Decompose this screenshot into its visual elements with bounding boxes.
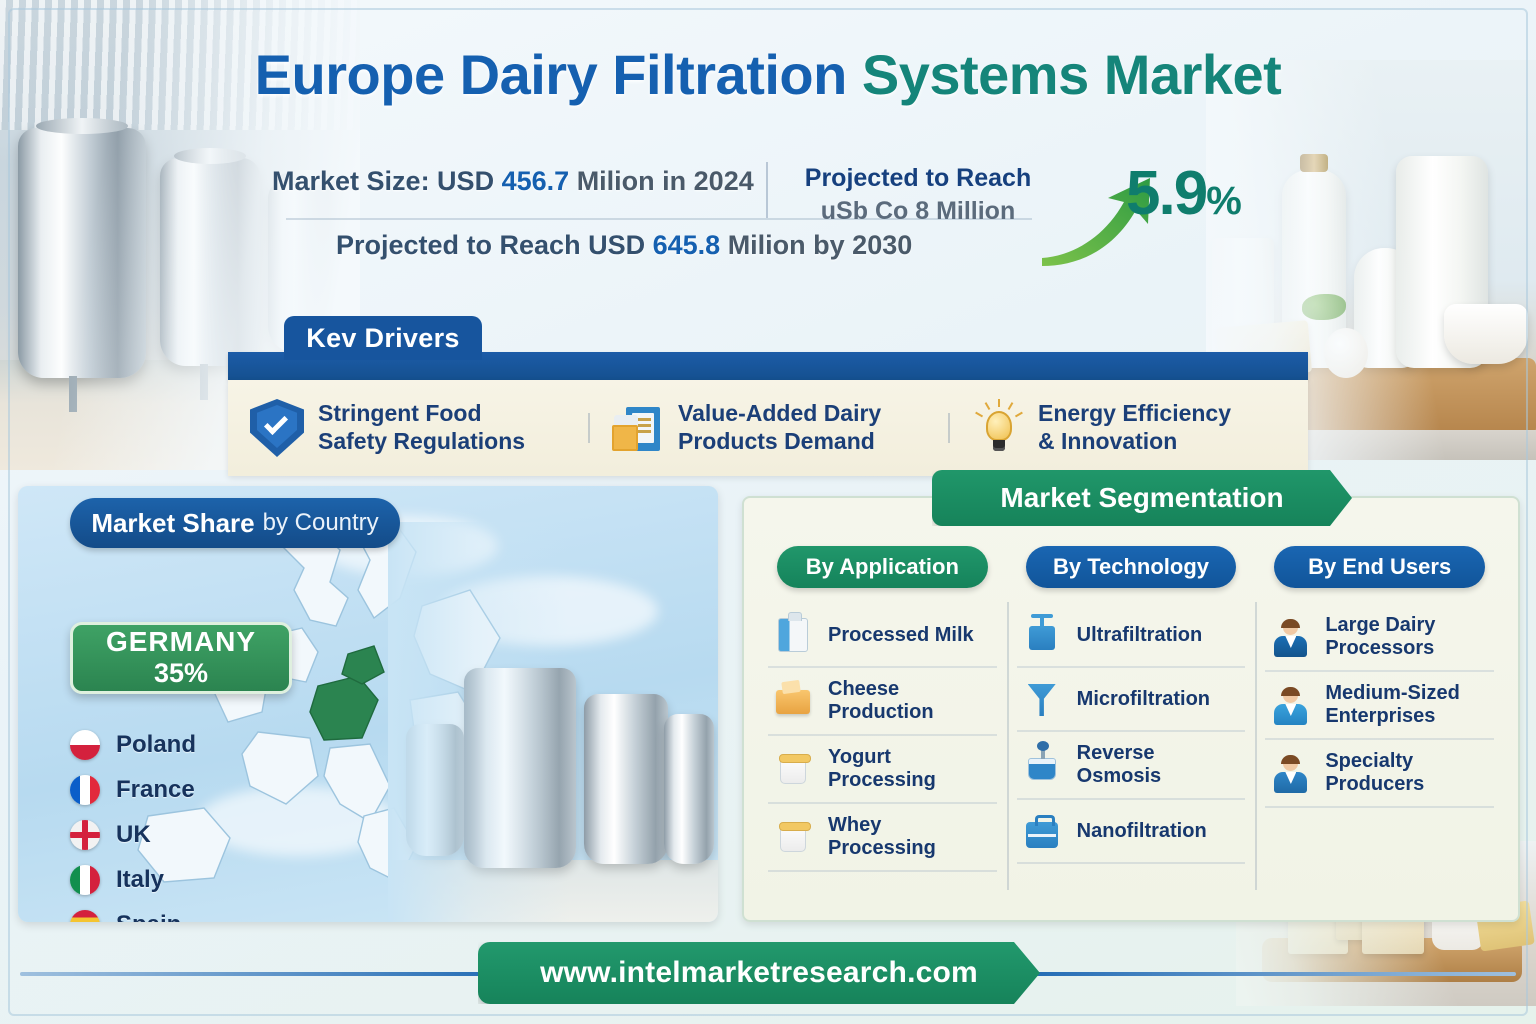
seg-item-label: Yogurt Processing bbox=[828, 746, 993, 792]
filtration-equipment-photo bbox=[388, 522, 718, 922]
driver-item-energy-efficiency[interactable]: Energy Efficiency & Innovation bbox=[948, 399, 1308, 457]
footer-url-banner[interactable]: www.intelmarketresearch.com bbox=[478, 942, 1040, 1004]
seg-item-medium-sized-enterprises[interactable]: Medium-Sized Enterprises bbox=[1265, 672, 1494, 740]
seg-item-label: Processed Milk bbox=[828, 624, 974, 647]
projected-value: 645.8 bbox=[653, 230, 721, 260]
country-name: France bbox=[116, 776, 195, 804]
whey-tub-icon bbox=[772, 816, 814, 858]
seg-item-label: Reverse Osmosis bbox=[1077, 742, 1242, 788]
driver-label: Energy Efficiency & Innovation bbox=[1038, 400, 1231, 455]
ultrafilter-icon bbox=[1021, 614, 1063, 656]
seg-item-label: Large Dairy Processors bbox=[1325, 614, 1435, 660]
seg-item-large-dairy-processors[interactable]: Large Dairy Processors bbox=[1265, 604, 1494, 672]
seg-item-label-line2: Processors bbox=[1325, 637, 1435, 660]
projected-overlay-text: Projected to Reach uSb Co 8 Million bbox=[798, 164, 1038, 226]
nanofilter-case-icon bbox=[1021, 810, 1063, 852]
market-size-label: Market Size: USD bbox=[272, 166, 494, 196]
shield-check-icon bbox=[250, 399, 304, 457]
seg-item-label: Medium-Sized Enterprises bbox=[1325, 682, 1459, 728]
market-size-value: 456.7 bbox=[502, 166, 570, 196]
seg-item-label-line1: Medium-Sized bbox=[1325, 682, 1459, 705]
title-part-one: Europe Dairy Filtration bbox=[255, 43, 847, 106]
country-name: Italy bbox=[116, 866, 164, 894]
seg-item-nanofiltration[interactable]: Nanofiltration bbox=[1017, 800, 1246, 864]
infographic-canvas: Europe Dairy Filtration Systems Market M… bbox=[0, 0, 1536, 1024]
title-part-two: Systems Market bbox=[862, 43, 1281, 106]
market-share-title: Market Share by Country bbox=[70, 498, 400, 548]
large-processor-avatar-icon bbox=[1269, 616, 1311, 658]
seg-item-label: Microfiltration bbox=[1077, 688, 1210, 711]
milk-carton-icon bbox=[772, 614, 814, 656]
market-share-title-bold: Market Share bbox=[91, 508, 254, 539]
cagr-percent-sign: % bbox=[1206, 179, 1240, 223]
flag-uk-icon bbox=[70, 820, 100, 850]
tab-by-technology[interactable]: By Technology bbox=[1026, 546, 1236, 588]
seg-item-label-line1: Specialty bbox=[1325, 750, 1424, 773]
leading-country-name: GERMANY bbox=[106, 627, 256, 656]
driver-label: Value-Added Dairy Products Demand bbox=[678, 400, 881, 455]
seg-item-whey-processing[interactable]: Whey Processing bbox=[768, 804, 997, 872]
market-segmentation-panel: Market Segmentation By Application Proce… bbox=[742, 496, 1520, 922]
driver-label: Stringent Food Safety Regulations bbox=[318, 400, 525, 455]
seg-item-label: Ultrafiltration bbox=[1077, 624, 1203, 647]
seg-item-yogurt-processing[interactable]: Yogurt Processing bbox=[768, 736, 997, 804]
country-list: Poland France UK Italy Spain bbox=[70, 722, 196, 922]
market-segmentation-banner: Market Segmentation bbox=[932, 470, 1352, 526]
seg-item-ultrafiltration[interactable]: Ultrafiltration bbox=[1017, 604, 1246, 668]
seg-item-label: Specialty Producers bbox=[1325, 750, 1424, 796]
footer-url: www.intelmarketresearch.com bbox=[540, 956, 978, 990]
projected-suffix: Milion by 2030 bbox=[728, 230, 913, 260]
country-row-spain[interactable]: Spain bbox=[70, 902, 196, 922]
stats-divider-vertical bbox=[766, 162, 768, 218]
cagr-block: 5.9% bbox=[1058, 162, 1278, 262]
projected-size-line: Projected to Reach USD 645.8 Milion by 2… bbox=[336, 230, 912, 261]
seg-item-cheese-production[interactable]: Cheese Production bbox=[768, 668, 997, 736]
country-row-uk[interactable]: UK bbox=[70, 812, 196, 857]
key-drivers-tab-label: Kev Drivers bbox=[284, 316, 482, 360]
yogurt-tub-icon bbox=[772, 748, 814, 790]
tab-by-end-users[interactable]: By End Users bbox=[1274, 546, 1484, 588]
flag-france-icon bbox=[70, 775, 100, 805]
seg-item-processed-milk[interactable]: Processed Milk bbox=[768, 604, 997, 668]
seg-item-label-line2: Enterprises bbox=[1325, 705, 1459, 728]
segmentation-column-technology: By Technology Ultrafiltration Microfiltr… bbox=[1007, 546, 1256, 906]
segmentation-column-end-users: By End Users Large Dairy Processors bbox=[1255, 546, 1504, 906]
country-name: UK bbox=[116, 821, 151, 849]
leading-country-share: 35% bbox=[154, 657, 208, 689]
market-size-line: Market Size: USD 456.7 Milion in 2024 bbox=[272, 166, 754, 197]
driver-label-line2: & Innovation bbox=[1038, 428, 1231, 456]
seg-item-specialty-producers[interactable]: Specialty Producers bbox=[1265, 740, 1494, 808]
flag-poland-icon bbox=[70, 730, 100, 760]
driver-label-line1: Value-Added Dairy bbox=[678, 400, 881, 428]
tab-by-application[interactable]: By Application bbox=[777, 546, 987, 588]
market-stats-block: Market Size: USD 456.7 Milion in 2024 Pr… bbox=[258, 158, 1278, 288]
seg-item-label: Cheese Production bbox=[828, 678, 993, 724]
market-size-suffix: Milion in 2024 bbox=[577, 166, 754, 196]
key-drivers-body: Stringent Food Safety Regulations Value-… bbox=[228, 380, 1308, 476]
seg-item-label: Whey Processing bbox=[828, 814, 993, 860]
photo-fade-overlay bbox=[388, 522, 718, 922]
driver-item-food-safety[interactable]: Stringent Food Safety Regulations bbox=[228, 399, 588, 457]
country-row-poland[interactable]: Poland bbox=[70, 722, 196, 767]
page-title: Europe Dairy Filtration Systems Market bbox=[0, 42, 1536, 107]
country-row-italy[interactable]: Italy bbox=[70, 857, 196, 902]
driver-label-line1: Stringent Food bbox=[318, 400, 525, 428]
market-share-title-light: by Country bbox=[263, 509, 379, 537]
country-name: Poland bbox=[116, 731, 196, 759]
microfilter-funnel-icon bbox=[1021, 678, 1063, 720]
overlay-line-two: uSb Co 8 Million bbox=[798, 197, 1038, 226]
driver-label-line1: Energy Efficiency bbox=[1038, 400, 1231, 428]
lightbulb-icon bbox=[970, 399, 1024, 457]
seg-item-label-line2: Producers bbox=[1325, 773, 1424, 796]
package-box-icon bbox=[610, 399, 664, 457]
osmosis-beaker-icon bbox=[1021, 744, 1063, 786]
driver-item-value-added[interactable]: Value-Added Dairy Products Demand bbox=[588, 399, 948, 457]
country-name: Spain bbox=[116, 911, 181, 923]
projected-label: Projected to Reach USD bbox=[336, 230, 645, 260]
cagr-number: 5.9 bbox=[1126, 159, 1206, 228]
driver-label-line2: Safety Regulations bbox=[318, 428, 525, 456]
country-row-france[interactable]: France bbox=[70, 767, 196, 812]
cheese-block-icon bbox=[772, 680, 814, 722]
market-share-panel: Market Share by Country GERMANY 35% Pola… bbox=[18, 486, 718, 922]
specialty-producer-avatar-icon bbox=[1269, 752, 1311, 794]
seg-item-label: Nanofiltration bbox=[1077, 820, 1207, 843]
segmentation-column-application: By Application Processed Milk Cheese Pro… bbox=[758, 546, 1007, 906]
leading-country-badge: GERMANY 35% bbox=[70, 622, 292, 694]
flag-italy-icon bbox=[70, 865, 100, 895]
seg-item-reverse-osmosis[interactable]: Reverse Osmosis bbox=[1017, 732, 1246, 800]
overlay-line-one: Projected to Reach bbox=[798, 164, 1038, 193]
medium-enterprise-avatar-icon bbox=[1269, 684, 1311, 726]
seg-item-label-line1: Large Dairy bbox=[1325, 614, 1435, 637]
flag-spain-icon bbox=[70, 910, 100, 923]
driver-label-line2: Products Demand bbox=[678, 428, 881, 456]
segmentation-columns: By Application Processed Milk Cheese Pro… bbox=[758, 546, 1504, 906]
key-drivers-section: Kev Drivers Stringent Food Safety Regula… bbox=[228, 316, 1308, 476]
seg-item-microfiltration[interactable]: Microfiltration bbox=[1017, 668, 1246, 732]
cagr-value: 5.9% bbox=[1126, 158, 1240, 229]
